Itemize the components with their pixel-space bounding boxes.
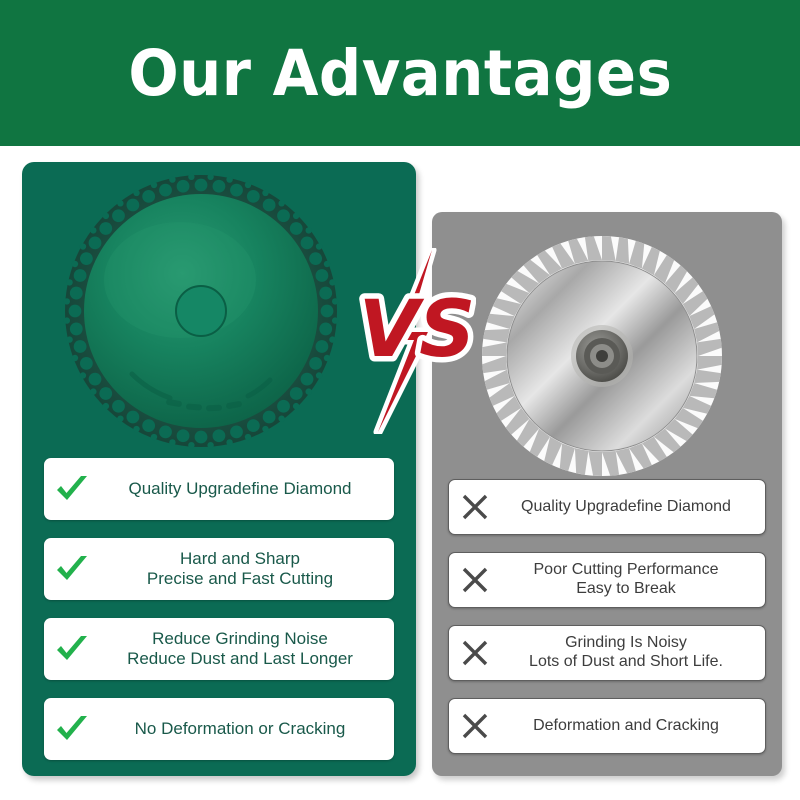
drawback-card: Poor Cutting Performance Easy to Break	[448, 552, 766, 608]
other-product-feature-list: Quality Upgradefine Diamond Poor Cutting…	[448, 479, 766, 771]
feature-line-1: Reduce Grinding Noise	[152, 629, 328, 648]
feature-text: Quality Upgradefine Diamond	[100, 479, 394, 499]
drawback-line-1: Quality Upgradefine Diamond	[521, 498, 731, 515]
feature-text: Reduce Grinding Noise Reduce Dust and La…	[100, 629, 394, 669]
drawback-line-2: Lots of Dust and Short Life.	[501, 653, 751, 672]
diamond-saw-blade-image	[62, 172, 340, 450]
drawback-card: Quality Upgradefine Diamond	[448, 479, 766, 535]
check-icon	[44, 633, 100, 665]
advantages-infographic: Our Advantages	[0, 0, 800, 800]
tct-saw-blade-image	[478, 232, 726, 480]
drawback-line-2: Easy to Break	[501, 580, 751, 599]
feature-line-2: Precise and Fast Cutting	[100, 569, 380, 589]
drawback-text: Deformation and Cracking	[501, 717, 765, 736]
vs-badge: VS VS	[358, 248, 476, 434]
cross-icon	[449, 565, 501, 595]
feature-line-1: No Deformation or Cracking	[135, 719, 346, 738]
drawback-line-1: Poor Cutting Performance	[534, 561, 719, 578]
feature-text: Hard and Sharp Precise and Fast Cutting	[100, 549, 394, 589]
vs-label: VS	[359, 285, 476, 375]
drawback-line-1: Deformation and Cracking	[533, 717, 719, 734]
feature-card: Hard and Sharp Precise and Fast Cutting	[44, 538, 394, 600]
drawback-card: Grinding Is Noisy Lots of Dust and Short…	[448, 625, 766, 681]
feature-line-1: Quality Upgradefine Diamond	[128, 479, 351, 498]
check-icon	[44, 713, 100, 745]
cross-icon	[449, 492, 501, 522]
cross-icon	[449, 711, 501, 741]
feature-line-1: Hard and Sharp	[180, 549, 300, 568]
feature-line-2: Reduce Dust and Last Longer	[100, 649, 380, 669]
check-icon	[44, 473, 100, 505]
our-product-feature-list: Quality Upgradefine Diamond Hard and Sha…	[44, 458, 394, 778]
drawback-text: Poor Cutting Performance Easy to Break	[501, 561, 765, 599]
drawback-text: Grinding Is Noisy Lots of Dust and Short…	[501, 634, 765, 672]
feature-card: Reduce Grinding Noise Reduce Dust and La…	[44, 618, 394, 680]
feature-card: Quality Upgradefine Diamond	[44, 458, 394, 520]
page-title: Our Advantages	[128, 42, 672, 105]
drawback-line-1: Grinding Is Noisy	[565, 634, 687, 651]
feature-text: No Deformation or Cracking	[100, 719, 394, 739]
header-banner: Our Advantages	[0, 0, 800, 146]
drawback-text: Quality Upgradefine Diamond	[501, 498, 765, 517]
cross-icon	[449, 638, 501, 668]
feature-card: No Deformation or Cracking	[44, 698, 394, 760]
drawback-card: Deformation and Cracking	[448, 698, 766, 754]
check-icon	[44, 553, 100, 585]
